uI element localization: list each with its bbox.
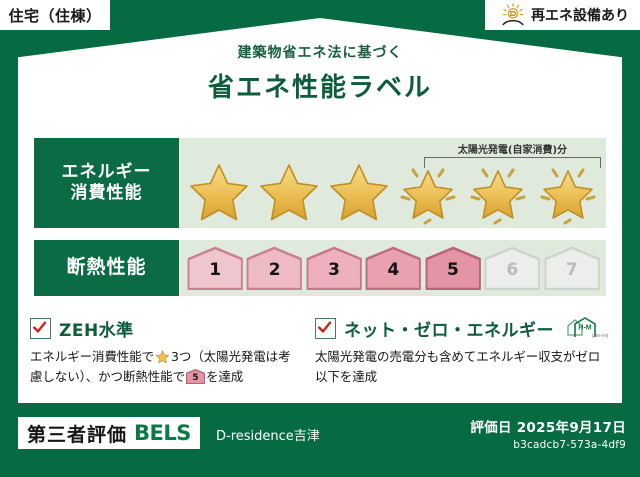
insulation-performance-value: 1 2 3 4 5 [179, 240, 606, 296]
star-solar-sparkle [464, 157, 532, 225]
criteria-section: ZEH水準 エネルギー消費性能で3つ（太陽光発電は考慮しない）、かつ断熱性能で5… [30, 315, 608, 388]
inline-star-icon [155, 349, 170, 364]
insulation-performance-row: 断熱性能 1 2 3 4 [34, 240, 606, 296]
star-rating [185, 153, 602, 225]
checkbox-checked-icon [315, 318, 336, 339]
insulation-level-4: 4 [365, 246, 421, 290]
bels-certification-badge: 第三者評価 BELS [18, 417, 200, 449]
criterion-zeh-standard: ZEH水準 エネルギー消費性能で3つ（太陽光発電は考慮しない）、かつ断熱性能で5… [30, 315, 299, 388]
renewable-energy-tag-label: 再エネ設備あり [531, 5, 629, 25]
criterion-nze-title: ネット・ゼロ・エネルギー [344, 316, 554, 341]
insulation-level-2: 2 [246, 246, 302, 290]
building-name: D-residence吉津 [216, 425, 320, 444]
checkbox-checked-icon [30, 318, 51, 339]
insulation-level-1-label: 1 [187, 260, 243, 280]
insulation-level-6-label: 6 [484, 260, 540, 280]
title-subtitle: 建築物省エネ法に基づく [0, 42, 640, 62]
star-filled [255, 157, 323, 225]
criterion-zeh-title: ZEH水準 [59, 316, 134, 341]
bels-jp-label: 第三者評価 [27, 420, 127, 447]
renewable-energy-tag: 再エネ設備あり [485, 0, 640, 30]
criterion-nze-header: ネット・ゼロ・エネルギー H-M [ZEH-M] [315, 315, 608, 341]
building-type-tag: 住宅（住棟） [0, 0, 110, 30]
energy-performance-value: 太陽光発電(自家消費)分 [179, 138, 606, 228]
criterion-net-zero-energy: ネット・ゼロ・エネルギー H-M [ZEH-M] 太陽光発電の売電分も含めてエネ… [315, 315, 608, 388]
inline-house-level-icon: 5 [186, 369, 205, 384]
energy-performance-row: エネルギー 消費性能 太陽光発電(自家消費)分 [34, 138, 606, 228]
insulation-level-2-label: 2 [246, 260, 302, 280]
sun-renewable-icon [500, 3, 526, 27]
insulation-level-3: 3 [306, 246, 362, 290]
zeh-m-house-logo-icon: H-M [ZEH-M] [562, 315, 608, 341]
insulation-level-5-label: 5 [425, 260, 481, 280]
evaluation-info: 評価日 2025年9月17日 b3cadcb7-573a-4df9 [470, 416, 626, 451]
insulation-level-1: 1 [187, 246, 243, 290]
criterion-nze-description: 太陽光発電の売電分も含めてエネルギー収支がゼロ以下を達成 [315, 347, 608, 388]
evaluation-id: b3cadcb7-573a-4df9 [470, 439, 626, 451]
title-main: 省エネ性能ラベル [0, 67, 640, 104]
svg-text:H-M: H-M [578, 325, 591, 332]
star-filled [185, 157, 253, 225]
star-solar-sparkle [534, 157, 602, 225]
insulation-level-5: 5 [425, 246, 481, 290]
criterion-zeh-desc-part1: エネルギー消費性能で [30, 349, 154, 364]
insulation-key-label: 断熱性能 [66, 256, 146, 280]
footer-bar: 第三者評価 BELS D-residence吉津 評価日 2025年9月17日 … [0, 403, 640, 477]
criterion-zeh-desc-part3: を達成 [206, 369, 243, 384]
inline-house-level-label: 5 [186, 371, 205, 386]
insulation-level-7: 7 [544, 246, 600, 290]
star-filled [325, 157, 393, 225]
svg-text:[ZEH-M]: [ZEH-M] [592, 333, 608, 338]
evaluation-date: 評価日 2025年9月17日 [470, 416, 626, 436]
criterion-zeh-description: エネルギー消費性能で3つ（太陽光発電は考慮しない）、かつ断熱性能で5を達成 [30, 347, 299, 388]
energy-key-line2: 消費性能 [71, 183, 143, 204]
star-solar-sparkle [394, 157, 462, 225]
criterion-zeh-header: ZEH水準 [30, 315, 299, 341]
insulation-performance-key: 断熱性能 [34, 240, 179, 296]
energy-performance-label: 住宅（住棟） 再エネ設備あり 建築物省エネ法に基づく 省エネ性能ラベル [0, 0, 640, 477]
energy-key-line1: エネルギー [62, 162, 152, 183]
building-type-tag-label: 住宅（住棟） [8, 5, 101, 26]
insulation-level-7-label: 7 [544, 260, 600, 280]
bels-en-label: BELS [134, 421, 191, 445]
energy-performance-key: エネルギー 消費性能 [34, 138, 179, 228]
insulation-level-6: 6 [484, 246, 540, 290]
insulation-level-scale: 1 2 3 4 5 [187, 244, 600, 292]
insulation-level-4-label: 4 [365, 260, 421, 280]
insulation-level-3-label: 3 [306, 260, 362, 280]
page-title: 建築物省エネ法に基づく 省エネ性能ラベル [0, 42, 640, 104]
